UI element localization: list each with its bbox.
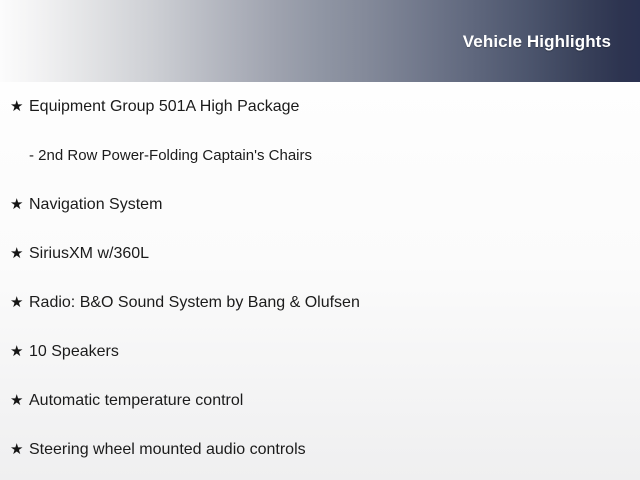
star-icon: ★ <box>10 327 29 376</box>
list-item: ★Automatic temperature control <box>0 376 640 425</box>
star-icon: ★ <box>10 376 29 425</box>
header-banner: Vehicle Highlights <box>0 0 640 82</box>
star-icon: ★ <box>10 180 29 229</box>
star-icon: ★ <box>10 278 29 327</box>
list-item: ★Equipment Group 501A High Package <box>0 82 640 131</box>
star-icon: ★ <box>10 425 29 474</box>
vehicle-highlights-panel: Vehicle Highlights ★Equipment Group 501A… <box>0 0 640 480</box>
page-title: Vehicle Highlights <box>463 31 611 52</box>
list-item: ★Navigation System <box>0 180 640 229</box>
star-icon: ★ <box>10 229 29 278</box>
feature-label: Radio: B&O Sound System by Bang & Olufse… <box>29 278 360 327</box>
vehicle-features-list: ★Equipment Group 501A High Package - 2nd… <box>0 82 640 474</box>
feature-label: Steering wheel mounted audio controls <box>29 425 306 474</box>
feature-label: 10 Speakers <box>29 327 119 376</box>
feature-label: Equipment Group 501A High Package <box>29 82 299 131</box>
list-item: ★Radio: B&O Sound System by Bang & Olufs… <box>0 278 640 327</box>
list-item: - 2nd Row Power-Folding Captain's Chairs <box>0 131 640 180</box>
feature-label: SiriusXM w/360L <box>29 229 149 278</box>
list-item: ★10 Speakers <box>0 327 640 376</box>
feature-label: Navigation System <box>29 180 162 229</box>
star-icon: ★ <box>10 82 29 131</box>
feature-label: Automatic temperature control <box>29 376 243 425</box>
list-item: ★Steering wheel mounted audio controls <box>0 425 640 474</box>
list-item: ★SiriusXM w/360L <box>0 229 640 278</box>
feature-label: - 2nd Row Power-Folding Captain's Chairs <box>29 131 312 180</box>
